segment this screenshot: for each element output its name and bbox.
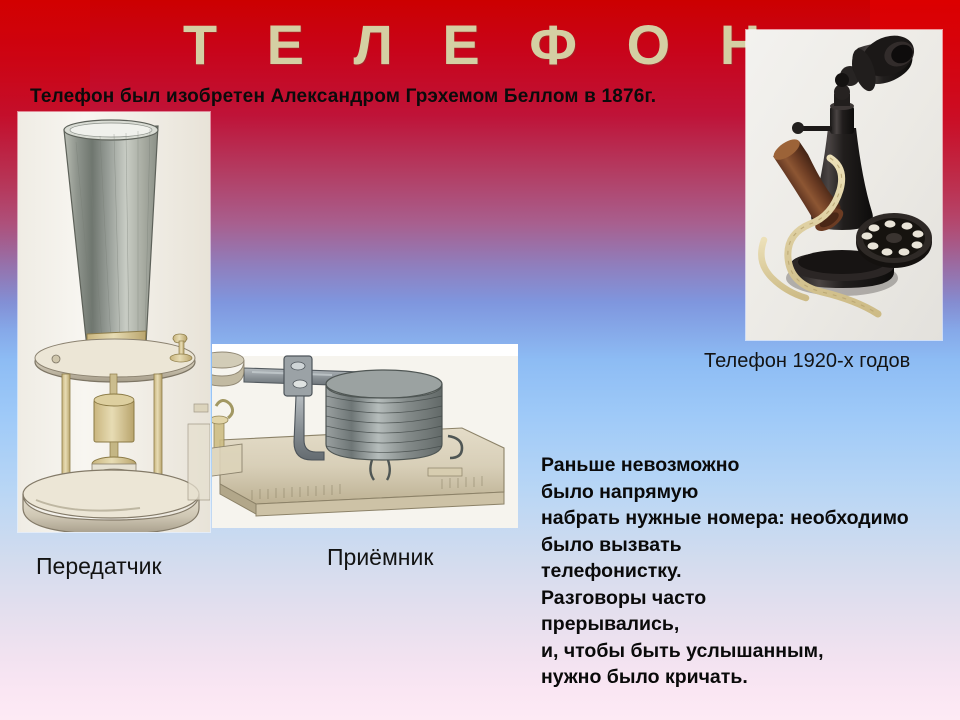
caption-receiver: Приёмник	[327, 544, 433, 571]
caption-telephone: Телефон 1920-х годов	[704, 350, 910, 373]
image-transmitter	[18, 112, 210, 532]
transmitter-illustration-graphic	[18, 112, 210, 532]
caption-transmitter: Передатчик	[36, 553, 162, 580]
presentation-slide: Т Е Л Е Ф О Н Телефон был изобретен Алек…	[0, 0, 960, 720]
slide-subtitle: Телефон был изобретен Александром Грэхем…	[30, 86, 656, 108]
body-paragraph: Раньше невозможно было напрямую набрать …	[541, 452, 951, 691]
candlestick-telephone-photo-graphic	[746, 30, 942, 340]
image-receiver	[212, 344, 518, 528]
image-telephone-1920s	[746, 30, 942, 340]
receiver-illustration-graphic	[212, 344, 518, 528]
